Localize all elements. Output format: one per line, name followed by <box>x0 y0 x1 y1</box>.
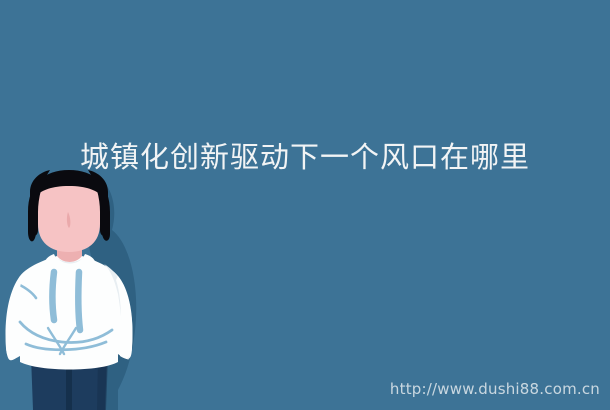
poster-title: 城镇化创新驱动下一个风口在哪里 <box>0 140 610 176</box>
drawstring-right <box>78 272 80 330</box>
illustration-young-man <box>0 168 150 410</box>
watermark-url: http://www.dushi88.com.cn <box>390 381 600 398</box>
drawstring-left <box>53 272 55 320</box>
poster-canvas: 城镇化创新驱动下一个风口在哪里 http://www.dushi88.com.c… <box>0 0 610 410</box>
